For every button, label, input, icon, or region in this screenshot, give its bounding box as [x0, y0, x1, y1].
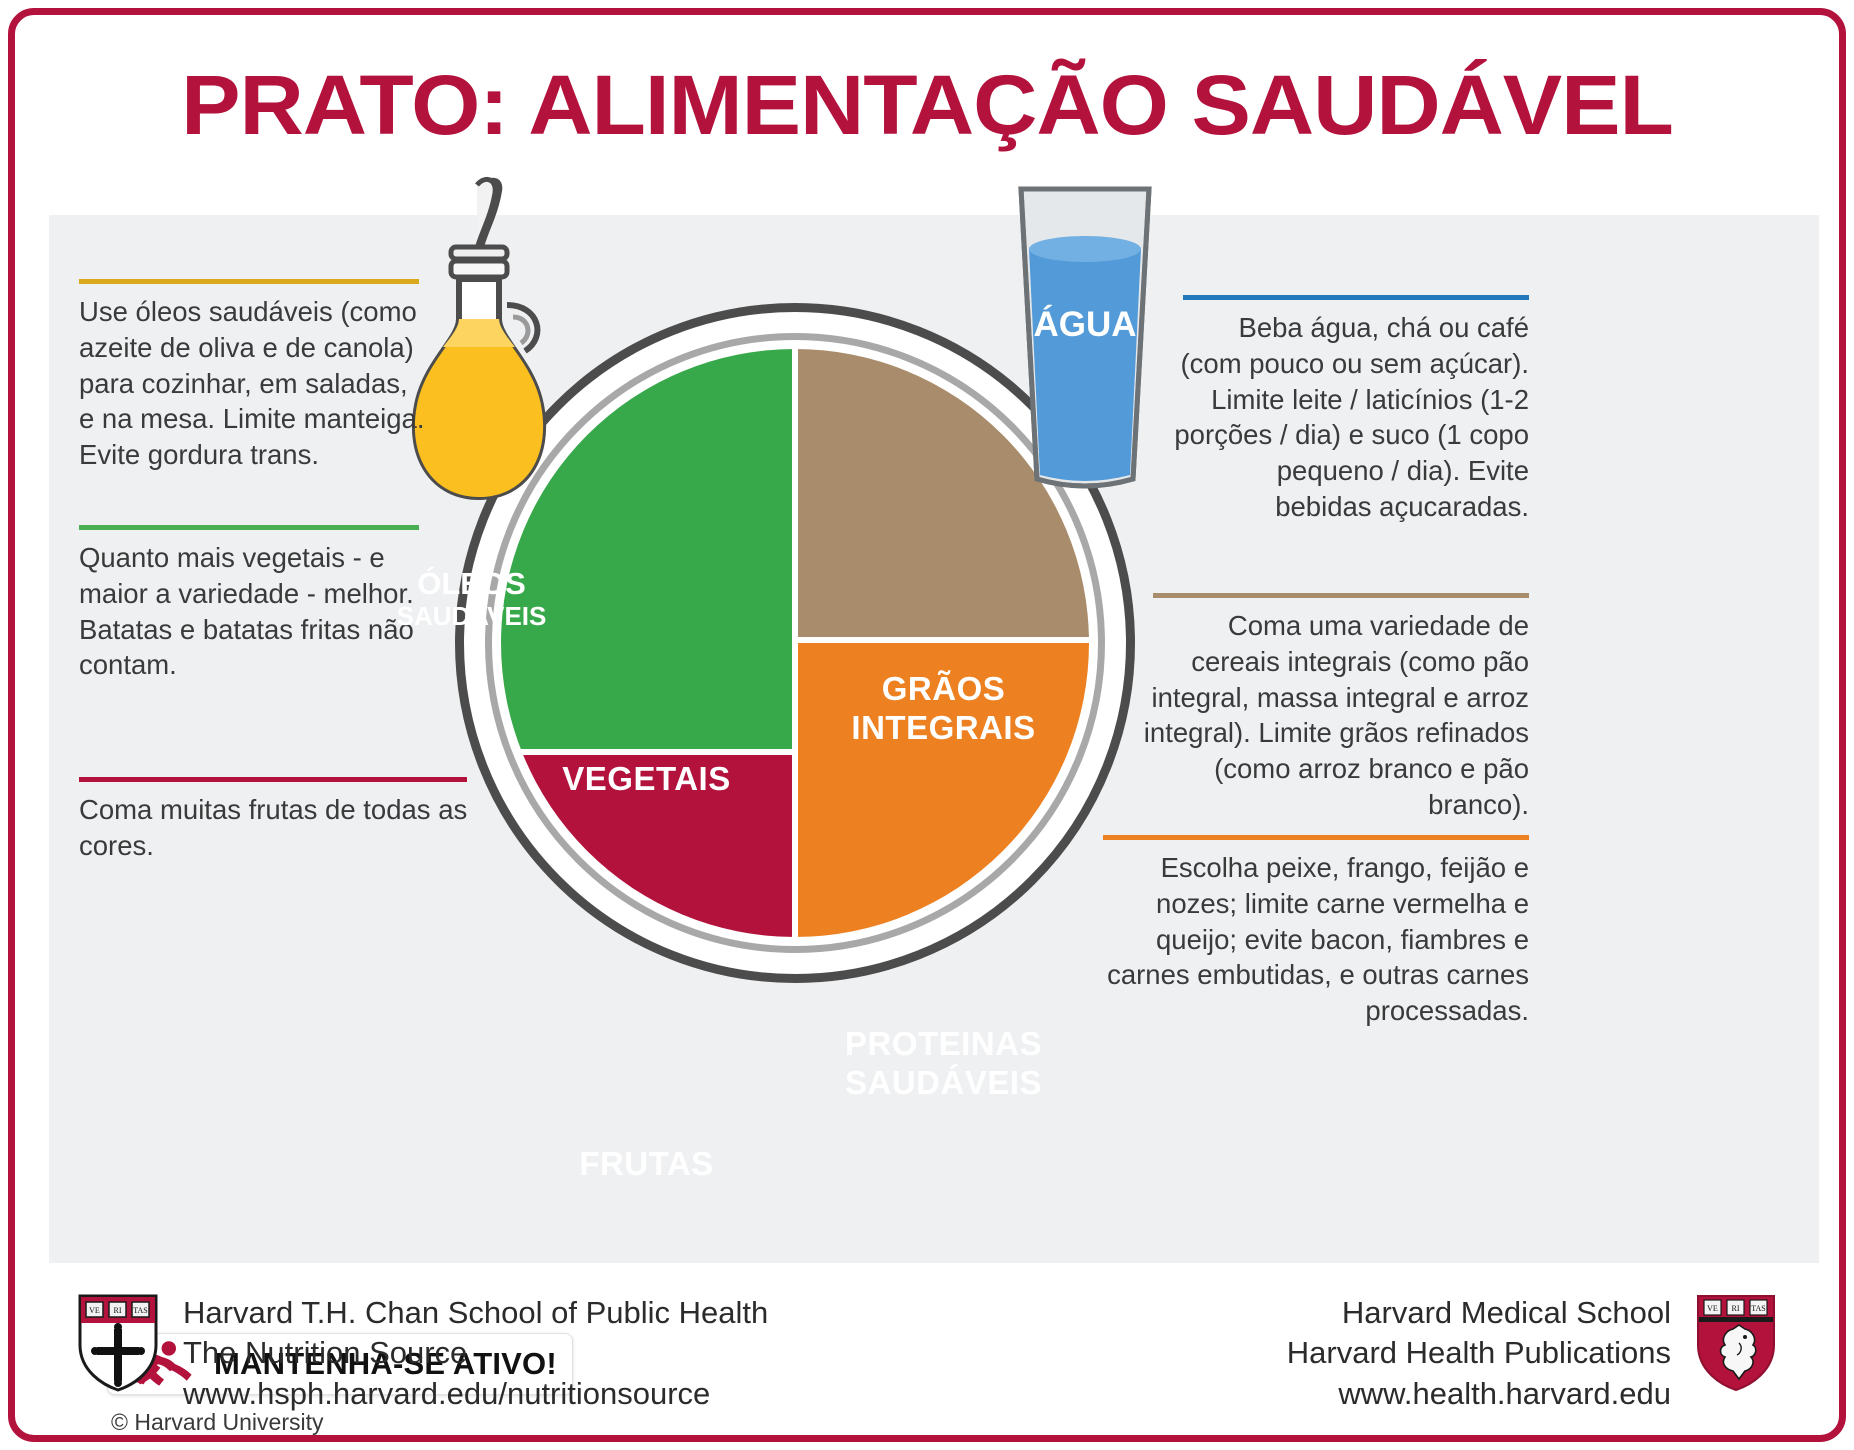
oils-plate-label: ÓLEOS SAUDAVEIS — [379, 567, 564, 631]
callout-text-oils: Use óleos saudáveis (como azeite de oliv… — [79, 294, 429, 473]
footer-right-lines: Harvard Medical School Harvard Health Pu… — [1287, 1293, 1671, 1414]
svg-text:VE: VE — [1707, 1304, 1718, 1313]
plate-label-proteins: PROTEINAS SAUDÁVEIS — [798, 1025, 1089, 1103]
footer-right-line2: Harvard Health Publications — [1287, 1333, 1671, 1373]
plate-label-proteins-line2: SAUDÁVEIS — [845, 1064, 1042, 1101]
callout-rule-fruits — [79, 777, 467, 782]
oils-label-line1: ÓLEOS — [379, 567, 564, 602]
callout-proteins: Escolha peixe, frango, feijão e nozes; l… — [1093, 835, 1529, 1029]
footer-harvard-chan: VE RI TAS Harvard T.H. Chan School of Pu… — [77, 1293, 768, 1414]
footer-left-line2: The Nutrition Source — [183, 1333, 768, 1373]
plate-label-grains-line2: INTEGRAIS — [851, 709, 1035, 746]
callout-text-vegetables: Quanto mais vegetais - e maior a varieda… — [79, 540, 429, 683]
svg-text:TAS: TAS — [1751, 1304, 1765, 1313]
callout-text-proteins: Escolha peixe, frango, feijão e nozes; l… — [1093, 850, 1529, 1029]
footer-left-line3[interactable]: www.hsph.harvard.edu/nutritionsource — [183, 1374, 768, 1414]
svg-text:TAS: TAS — [133, 1306, 147, 1315]
plate-label-fruits: FRUTAS — [501, 1145, 792, 1184]
callout-rule-vegetables — [79, 525, 419, 530]
callout-water: Beba água, chá ou café (com pouco ou sem… — [1173, 295, 1529, 525]
harvard-chan-shield-icon: VE RI TAS — [77, 1293, 159, 1393]
svg-text:RI: RI — [114, 1306, 122, 1315]
footer-harvard-medical: Harvard Medical School Harvard Health Pu… — [1287, 1293, 1777, 1414]
callout-fruits: Coma muitas frutas de todas as cores. — [79, 777, 479, 864]
callout-text-grains: Coma uma variedade de cereais integrais … — [1143, 608, 1529, 823]
callout-rule-water — [1183, 295, 1529, 300]
page-title: PRATO: ALIMENTAÇÃO SAUDÁVEL — [8, 57, 1846, 154]
oils-label-line2: SAUDAVEIS — [379, 602, 564, 631]
footer-left-lines: Harvard T.H. Chan School of Public Healt… — [183, 1293, 768, 1414]
callout-vegetables: Quanto mais vegetais - e maior a varieda… — [79, 525, 429, 683]
svg-text:VE: VE — [89, 1306, 100, 1315]
water-plate-label: ÁGUA — [999, 305, 1171, 345]
callout-oils: Use óleos saudáveis (como azeite de oliv… — [79, 279, 429, 473]
footer-left-line1: Harvard T.H. Chan School of Public Healt… — [183, 1293, 768, 1333]
callout-grains: Coma uma variedade de cereais integrais … — [1143, 593, 1529, 823]
plate-label-proteins-line1: PROTEINAS — [845, 1025, 1042, 1062]
callout-text-water: Beba água, chá ou café (com pouco ou sem… — [1173, 310, 1529, 525]
footer-right-line1: Harvard Medical School — [1287, 1293, 1671, 1333]
plate-label-grains-line1: GRÃOS — [882, 670, 1006, 707]
callout-rule-oils — [79, 279, 419, 284]
harvard-medical-shield-icon: VE RI TAS — [1695, 1293, 1777, 1393]
healthy-eating-plate-diagram: VEGETAIS FRUTAS GRÃOS INTEGRAIS PROTEINA… — [49, 215, 1819, 1263]
plate-label-vegetables: VEGETAIS — [501, 760, 792, 799]
callout-text-fruits: Coma muitas frutas de todas as cores. — [79, 792, 479, 864]
footer-right-line3[interactable]: www.health.harvard.edu — [1287, 1374, 1671, 1414]
callout-rule-proteins — [1103, 835, 1529, 840]
infographic-frame: PRATO: ALIMENTAÇÃO SAUDÁVEL VEGETAIS FRU… — [8, 8, 1846, 1442]
main-panel: VEGETAIS FRUTAS GRÃOS INTEGRAIS PROTEINA… — [49, 215, 1819, 1263]
callout-rule-grains — [1153, 593, 1529, 598]
plate-label-grains: GRÃOS INTEGRAIS — [798, 670, 1089, 748]
svg-text:RI: RI — [1732, 1304, 1740, 1313]
